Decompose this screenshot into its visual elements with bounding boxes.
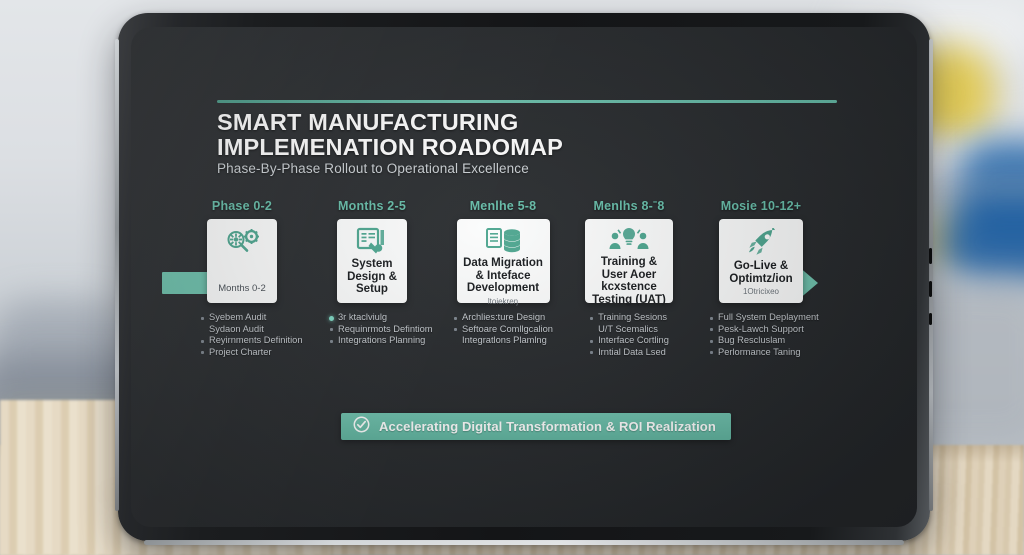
list-item: Project Charter [200, 347, 303, 359]
phase-bullet-list: Full System Deplayment Pesk-Lawch Suppor… [709, 312, 819, 358]
list-item: Bug Rescluslam [709, 335, 819, 347]
list-item: Syebem Audit [200, 312, 303, 324]
phase-card-title: Training & User Aoer kcxstence Testing (… [591, 256, 667, 306]
check-circle-icon [353, 416, 370, 438]
phase-bullet-list: Archlies:ture Design Seftoare Comllgcali… [453, 312, 553, 347]
device-power-button[interactable] [929, 313, 932, 325]
phase-bullet-list: Training Sesions U/T Scemalics Interface… [589, 312, 669, 358]
roadmap-slide: SMART MANUFACTURING IMPLEMENATION ROADOM… [131, 27, 917, 527]
list-item: Integrations Planning [329, 335, 433, 347]
list-item: U/T Scemalics [589, 324, 669, 336]
list-item: 3r ktaclviulg [329, 312, 433, 324]
phase-card[interactable]: Training & User Aoer kcxstence Testing (… [585, 219, 673, 303]
list-item: Archlies:ture Design [453, 312, 553, 324]
phase-column-3[interactable]: Menlhe 5-8 [453, 199, 553, 348]
list-item: Training Sesions [589, 312, 669, 324]
phase-card[interactable]: Data Migration & Inteface Development lt… [457, 219, 550, 303]
phase-label: Phase 0-2 [200, 199, 284, 213]
page-title-line2: IMPLEMENATION ROADOMAP [217, 135, 857, 160]
photo-scene: SMART MANUFACTURING IMPLEMENATION ROADOM… [0, 0, 1024, 555]
team-training-bulb-icon [608, 227, 650, 253]
phase-card-months: Months 0-2 [218, 283, 266, 296]
phase-column-5[interactable]: Mosie 10-12+ [709, 199, 813, 360]
list-item: Interface Cortling [589, 335, 669, 347]
phase-card-subtext: 1Otricixeo [743, 287, 779, 296]
list-item: Sydaon Audit [200, 324, 303, 336]
database-migration-icon [485, 227, 521, 254]
phase-card[interactable]: System Design & Setup [337, 219, 407, 303]
page-title-line1: SMART MANUFACTURING [217, 110, 857, 135]
device-side-button[interactable] [929, 248, 932, 264]
phase-card-title: Data Migration & Inteface Development [463, 257, 544, 295]
phase-label: Months 2-5 [329, 199, 415, 213]
phase-bullet-list: 3r ktaclviulg Requinrmots Defintiom Inte… [329, 312, 433, 347]
list-item: Irntial Data Lsed [589, 347, 669, 359]
phase-card[interactable]: Months 0-2 [207, 219, 277, 303]
page-title: SMART MANUFACTURING IMPLEMENATION ROADOM… [217, 110, 857, 160]
footer-banner[interactable]: Accelerating Digital Transformation & RO… [341, 413, 731, 440]
list-item: Full System Deplayment [709, 312, 819, 324]
tablet-device: SMART MANUFACTURING IMPLEMENATION ROADOM… [118, 13, 930, 541]
list-item: Perlormance Taning [709, 347, 819, 359]
phase-column-4[interactable]: Menlhs 8-ˉ8 [581, 199, 677, 360]
phase-label: Menlhe 5-8 [453, 199, 553, 213]
footer-banner-text: Accelerating Digital Transformation & RO… [379, 419, 716, 434]
blueprint-document-icon [356, 227, 388, 255]
phase-card[interactable]: Go-Live & Optimtz/ion 1Otricixeo [719, 219, 803, 303]
phase-label: Mosie 10-12+ [709, 199, 813, 213]
list-item: Reyirnments Definition [200, 335, 303, 347]
list-item: Seftoare Comllgcalion [453, 324, 553, 336]
rocket-launch-icon [745, 227, 777, 257]
list-item: Pesk-Lawch Support [709, 324, 819, 336]
magnifier-gear-icon [223, 227, 261, 257]
phase-column-1[interactable]: Phase 0-2 [200, 199, 284, 360]
device-rim-bottom [144, 540, 904, 545]
list-item: Requinrmots Defintiom [329, 324, 433, 336]
header-divider-rule [217, 100, 837, 103]
phase-card-title: System Design & Setup [343, 258, 401, 296]
phase-bullet-list: Syebem Audit Sydaon Audit Reyirnments De… [200, 312, 303, 358]
device-rim-right [929, 39, 933, 511]
phase-card-subtext: ltoiekreŋ [488, 297, 518, 306]
device-volume-button[interactable] [929, 281, 932, 297]
phase-column-2[interactable]: Months 2-5 [329, 199, 415, 348]
bg-blur-shape [940, 200, 1024, 285]
page-subtitle: Phase-By-Phase Rollout to Operational Ex… [217, 161, 529, 176]
tablet-screen[interactable]: SMART MANUFACTURING IMPLEMENATION ROADOM… [131, 27, 917, 527]
device-rim-left [115, 39, 119, 511]
phase-card-title: Go-Live & Optimtz/ion [725, 260, 797, 285]
list-item: Integratlons Plamlng [453, 335, 553, 347]
phase-label: Menlhs 8-ˉ8 [581, 199, 677, 213]
